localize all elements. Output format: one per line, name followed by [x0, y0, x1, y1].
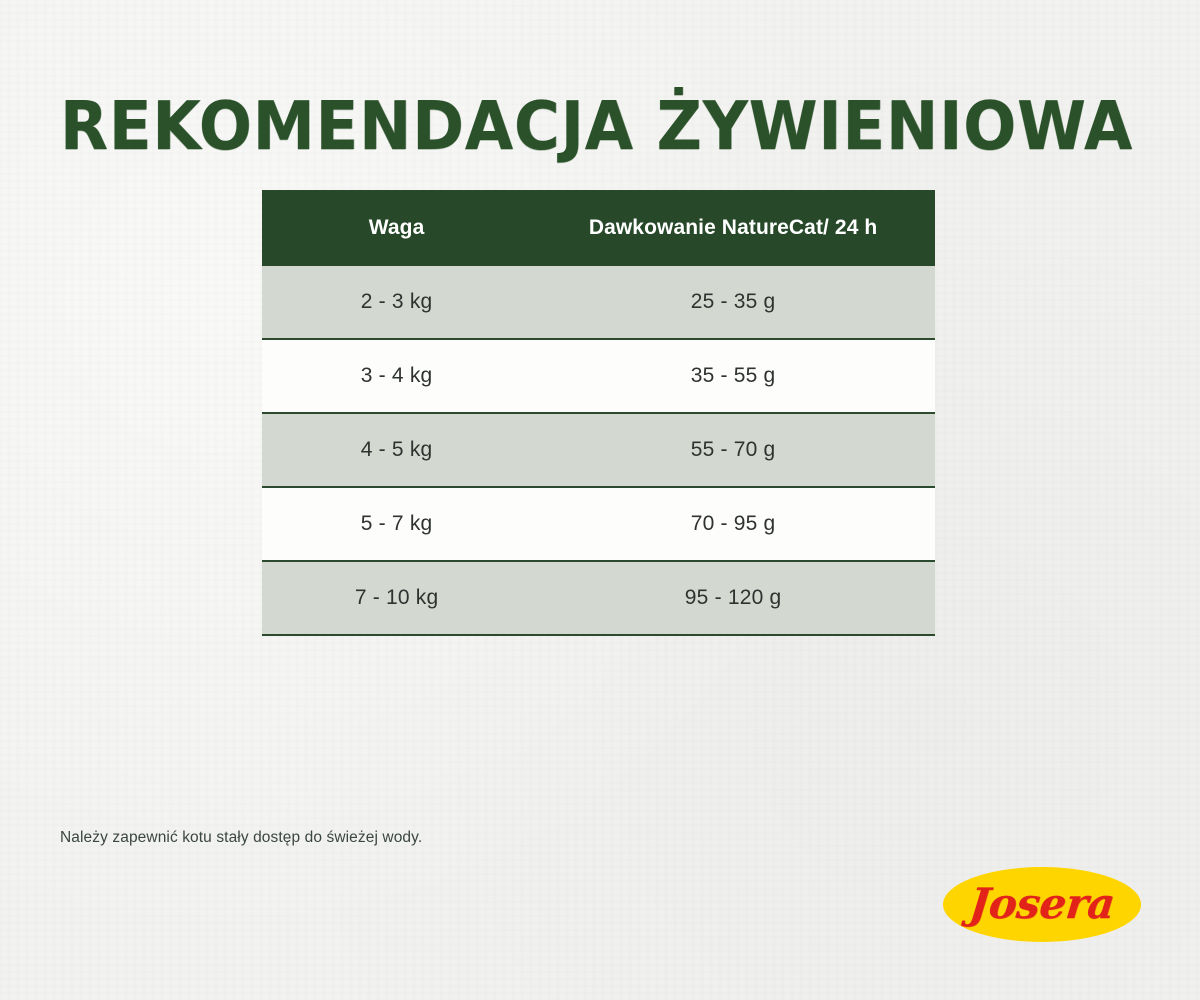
table-row: 5 - 7 kg 70 - 95 g [262, 487, 935, 561]
page-title: REKOMENDACJA ŻYWIENIOWA [60, 93, 1133, 160]
cell-weight: 7 - 10 kg [262, 561, 531, 635]
table-row: 7 - 10 kg 95 - 120 g [262, 561, 935, 635]
logo-wordmark: Josera [939, 866, 1145, 941]
cell-weight: 4 - 5 kg [262, 413, 531, 487]
cell-weight: 5 - 7 kg [262, 487, 531, 561]
table-header: Waga Dawkowanie NatureCat/ 24 h [262, 190, 935, 266]
table-body: 2 - 3 kg 25 - 35 g 3 - 4 kg 35 - 55 g 4 … [262, 266, 935, 635]
table-row: 3 - 4 kg 35 - 55 g [262, 339, 935, 413]
table-row: 2 - 3 kg 25 - 35 g [262, 266, 935, 339]
feeding-table-container: Waga Dawkowanie NatureCat/ 24 h 2 - 3 kg… [262, 190, 935, 636]
cell-weight: 3 - 4 kg [262, 339, 531, 413]
cell-dosage: 35 - 55 g [531, 339, 935, 413]
feeding-recommendation-page: REKOMENDACJA ŻYWIENIOWA Waga Dawkowanie … [0, 0, 1200, 1000]
cell-dosage: 25 - 35 g [531, 266, 935, 339]
cell-dosage: 70 - 95 g [531, 487, 935, 561]
cell-dosage: 95 - 120 g [531, 561, 935, 635]
table-row: 4 - 5 kg 55 - 70 g [262, 413, 935, 487]
column-header-dosage: Dawkowanie NatureCat/ 24 h [531, 190, 935, 266]
cell-dosage: 55 - 70 g [531, 413, 935, 487]
feeding-table: Waga Dawkowanie NatureCat/ 24 h 2 - 3 kg… [262, 190, 935, 636]
table-header-row: Waga Dawkowanie NatureCat/ 24 h [262, 190, 935, 266]
cell-weight: 2 - 3 kg [262, 266, 531, 339]
column-header-weight: Waga [262, 190, 531, 266]
water-access-note: Należy zapewnić kotu stały dostęp do świ… [60, 829, 422, 847]
josera-logo: Josera [943, 867, 1141, 942]
